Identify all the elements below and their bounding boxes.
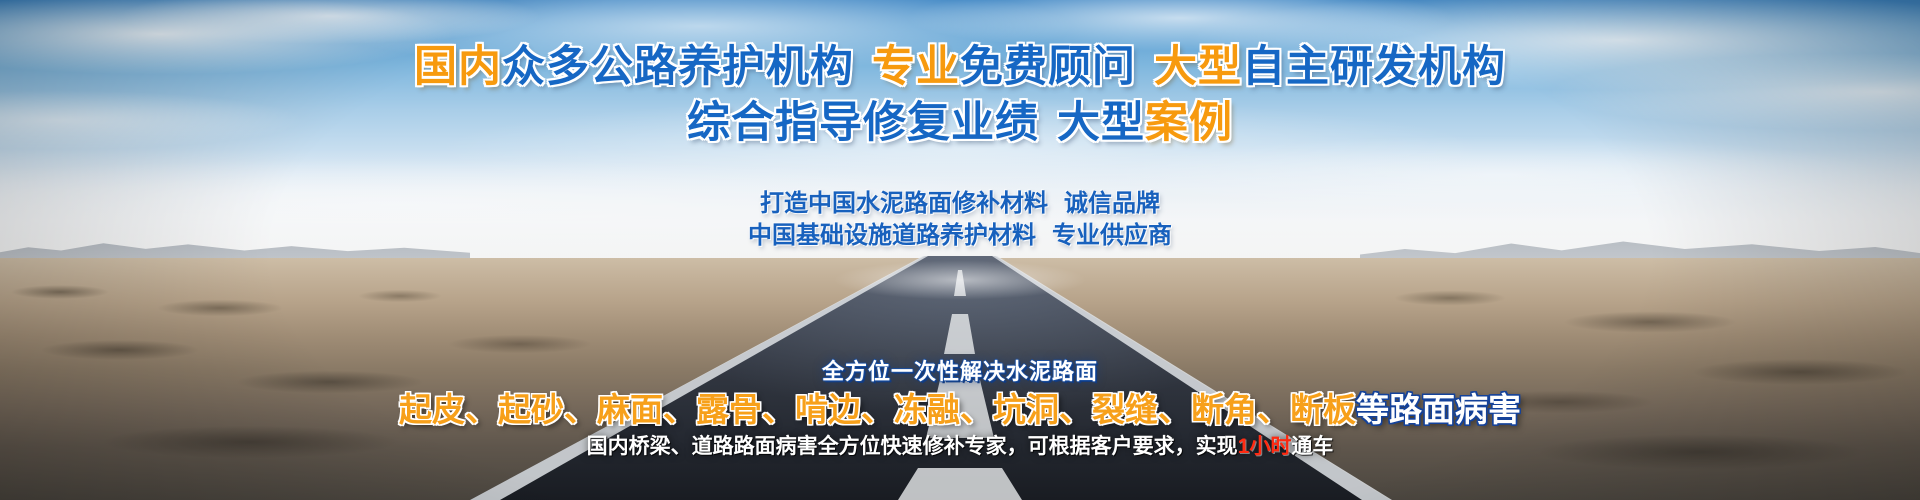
promotional-banner: 国内众多公路养护机构专业免费顾问大型自主研发机构 综合指导修复业绩大型案例 打造…	[0, 0, 1920, 500]
bottom-block: 全方位一次性解决水泥路面 起皮、起砂、麻面、露骨、啃边、冻融、坑洞、裂缝、断角、…	[0, 358, 1920, 461]
headline-2-seg-2: 大型	[1057, 99, 1145, 147]
subtitle-1-a: 打造中国水泥路面修补材料	[760, 190, 1048, 217]
bottom-footer: 国内桥梁、道路路面病害全方位快速修补专家，可根据客户要求，实现1小时通车	[0, 433, 1920, 461]
subtitle-line-2: 中国基础设施道路养护材料专业供应商	[0, 220, 1920, 252]
footer-highlight: 1小时	[1238, 435, 1292, 458]
headline-line-2: 综合指导修复业绩大型案例	[0, 98, 1920, 148]
headline-1-seg-5: 大型	[1154, 43, 1242, 91]
subtitle-line-1: 打造中国水泥路面修补材料诚信品牌	[0, 188, 1920, 220]
subtitle-block: 打造中国水泥路面修补材料诚信品牌 中国基础设施道路养护材料专业供应商	[0, 188, 1920, 252]
defect-list-text: 起皮、起砂、麻面、露骨、啃边、冻融、坑洞、裂缝、断角、断板	[399, 391, 1356, 428]
headline-1-seg-2: 众多公路养护机构	[502, 43, 854, 91]
subtitle-1-b: 诚信品牌	[1064, 190, 1160, 217]
headline-1-seg-6: 自主研发机构	[1242, 43, 1506, 91]
banner-copy: 国内众多公路养护机构专业免费顾问大型自主研发机构 综合指导修复业绩大型案例 打造…	[0, 0, 1920, 500]
headline-line-1: 国内众多公路养护机构专业免费顾问大型自主研发机构	[0, 42, 1920, 92]
headline-2-seg-3: 案例	[1145, 99, 1233, 147]
headline-1-seg-3: 专业	[872, 43, 960, 91]
footer-text-b: 通车	[1291, 435, 1333, 458]
headline-2-seg-1: 综合指导修复业绩	[687, 99, 1039, 147]
subtitle-2-b: 专业供应商	[1052, 222, 1172, 249]
headline-1-seg-4: 免费顾问	[960, 43, 1136, 91]
bottom-defect-list: 起皮、起砂、麻面、露骨、啃边、冻融、坑洞、裂缝、断角、断板等路面病害	[0, 388, 1920, 432]
headline-1-seg-1: 国内	[414, 43, 502, 91]
footer-text-a: 国内桥梁、道路路面病害全方位快速修补专家，可根据客户要求，实现	[587, 435, 1238, 458]
subtitle-2-a: 中国基础设施道路养护材料	[748, 222, 1036, 249]
bottom-heading: 全方位一次性解决水泥路面	[0, 358, 1920, 386]
defect-list-suffix: 等路面病害	[1356, 391, 1521, 428]
